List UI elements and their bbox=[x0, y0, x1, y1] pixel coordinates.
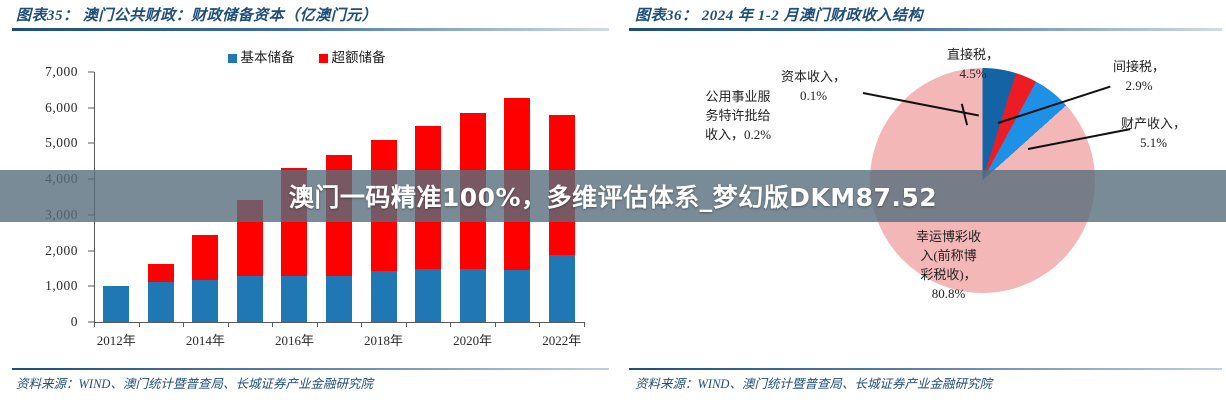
x-axis-label: 2020年 bbox=[453, 330, 492, 349]
pie-label-indirect-tax: 间接税， 2.9% bbox=[1113, 58, 1165, 96]
x-axis-tick bbox=[584, 322, 585, 327]
pie-label-utility-line3: 收入，0.2% bbox=[705, 126, 771, 145]
x-axis-tick bbox=[272, 322, 273, 327]
pie-label-gaming-line1: 幸运博彩收 bbox=[916, 228, 981, 247]
bar-segment-basic-reserve[interactable] bbox=[103, 286, 129, 322]
bar-segment-basic-reserve[interactable] bbox=[281, 276, 307, 322]
pie-label-direct-tax-line2: 4.5% bbox=[947, 65, 999, 84]
x-axis-tick bbox=[94, 322, 95, 327]
x-axis-tick bbox=[317, 322, 318, 327]
right-source-divider bbox=[629, 368, 1222, 370]
bar-group[interactable] bbox=[103, 72, 129, 322]
y-axis-label: 2,000 bbox=[0, 243, 78, 259]
bar-segment-excess-reserve[interactable] bbox=[504, 98, 530, 270]
bar-segment-basic-reserve[interactable] bbox=[549, 255, 575, 322]
x-axis-tick bbox=[406, 322, 407, 327]
bar-segment-excess-reserve[interactable] bbox=[237, 200, 263, 277]
pie-label-utility-concession: 公用事业服 务特许批给 收入，0.2% bbox=[705, 88, 771, 145]
x-axis-label: 2014年 bbox=[186, 330, 225, 349]
y-axis-label: 4,000 bbox=[0, 171, 78, 187]
bar-segment-excess-reserve[interactable] bbox=[549, 115, 575, 255]
x-axis-tick bbox=[183, 322, 184, 327]
bar-segment-basic-reserve[interactable] bbox=[148, 282, 174, 322]
bar-group[interactable] bbox=[237, 72, 263, 322]
bar-segment-excess-reserve[interactable] bbox=[148, 264, 174, 282]
left-chart-panel: 图表35： 澳门公共财政：财政储备资本（亿澳门元） 基本储备 超额储备 01,0… bbox=[0, 0, 613, 400]
bar-group[interactable] bbox=[371, 72, 397, 322]
left-panel-title: 图表35： 澳门公共财政：财政储备资本（亿澳门元） bbox=[16, 4, 605, 25]
x-axis-label: 2012年 bbox=[97, 330, 136, 349]
pie-label-property-income: 财产收入， 5.1% bbox=[1121, 115, 1186, 153]
y-axis-label: 3,000 bbox=[0, 207, 78, 223]
x-axis-label: 2022年 bbox=[542, 330, 581, 349]
x-axis-tick bbox=[450, 322, 451, 327]
bar-segment-basic-reserve[interactable] bbox=[192, 280, 218, 322]
legend-item-excess-reserve: 超额储备 bbox=[319, 46, 386, 66]
pie-label-property-income-line2: 5.1% bbox=[1121, 134, 1186, 153]
bar-group[interactable] bbox=[504, 72, 530, 322]
bar-segment-excess-reserve[interactable] bbox=[192, 235, 218, 280]
left-title-divider bbox=[12, 28, 609, 31]
pie-label-property-income-line1: 财产收入， bbox=[1121, 115, 1186, 134]
pie-label-utility-line2: 务特许批给 bbox=[705, 107, 771, 126]
bar-group[interactable] bbox=[460, 72, 486, 322]
fiscal-reserve-bar-chart: 基本储备 超额储备 01,0002,0003,0004,0005,0006,00… bbox=[0, 40, 613, 360]
bar-group[interactable] bbox=[192, 72, 218, 322]
x-axis-tick bbox=[228, 322, 229, 327]
legend-label-basic-reserve: 基本储备 bbox=[241, 50, 295, 65]
fiscal-revenue-pie-chart: 资本收入， 0.1% 公用事业服 务特许批给 收入，0.2% 直接税， 4.5%… bbox=[613, 30, 1226, 360]
right-panel-source: 资料来源：WIND、澳门统计暨普查局、长城证券产业金融研究院 bbox=[635, 373, 992, 392]
pie-label-indirect-tax-line1: 间接税， bbox=[1113, 58, 1165, 77]
pie-label-capital-income-line2: 0.1% bbox=[781, 87, 846, 106]
y-axis-label: 5,000 bbox=[0, 135, 78, 151]
pie-label-gaming-line2: 入(前称博 bbox=[916, 247, 981, 266]
bar-segment-excess-reserve[interactable] bbox=[326, 155, 352, 276]
screenshot-root: 图表35： 澳门公共财政：财政储备资本（亿澳门元） 基本储备 超额储备 01,0… bbox=[0, 0, 1226, 400]
x-axis-label: 2016年 bbox=[275, 330, 314, 349]
legend-swatch-excess-reserve bbox=[319, 54, 328, 63]
x-axis-tick bbox=[495, 322, 496, 327]
left-panel-source: 资料来源：WIND、澳门统计暨普查局、长城证券产业金融研究院 bbox=[16, 373, 373, 392]
legend-label-excess-reserve: 超额储备 bbox=[332, 50, 386, 65]
bar-group[interactable] bbox=[281, 72, 307, 322]
bar-segment-excess-reserve[interactable] bbox=[371, 140, 397, 271]
bar-segment-basic-reserve[interactable] bbox=[504, 270, 530, 323]
bar-segment-basic-reserve[interactable] bbox=[460, 269, 486, 322]
bar-segment-excess-reserve[interactable] bbox=[281, 168, 307, 276]
pie-label-indirect-tax-line2: 2.9% bbox=[1113, 77, 1165, 96]
bar-group[interactable] bbox=[549, 72, 575, 322]
bar-chart-legend: 基本储备 超额储备 bbox=[0, 46, 613, 66]
legend-item-basic-reserve: 基本储备 bbox=[228, 46, 295, 66]
bar-segment-excess-reserve[interactable] bbox=[415, 126, 441, 270]
pie-label-gaming-revenue: 幸运博彩收 入(前称博 彩税收)， 80.8% bbox=[916, 228, 981, 303]
legend-swatch-basic-reserve bbox=[228, 54, 237, 63]
x-axis-tick bbox=[139, 322, 140, 327]
x-axis-line bbox=[94, 322, 584, 323]
pie-label-direct-tax: 直接税， 4.5% bbox=[947, 46, 999, 84]
bar-segment-basic-reserve[interactable] bbox=[326, 276, 352, 322]
left-source-divider bbox=[12, 368, 609, 370]
pie-label-capital-income: 资本收入， 0.1% bbox=[781, 68, 846, 106]
bar-segment-basic-reserve[interactable] bbox=[371, 271, 397, 322]
pie-label-capital-income-line1: 资本收入， bbox=[781, 68, 846, 87]
y-axis-label: 7,000 bbox=[0, 64, 78, 80]
right-panel-title: 图表36： 2024 年 1-2 月澳门财政收入结构 bbox=[635, 4, 1218, 25]
bar-group[interactable] bbox=[326, 72, 352, 322]
pie-label-direct-tax-line1: 直接税， bbox=[947, 46, 999, 65]
pie-label-gaming-line4: 80.8% bbox=[916, 285, 981, 304]
y-axis-label: 0 bbox=[0, 314, 78, 330]
bar-segment-basic-reserve[interactable] bbox=[237, 276, 263, 322]
bar-group[interactable] bbox=[415, 72, 441, 322]
y-axis-label: 6,000 bbox=[0, 100, 78, 116]
bar-plot-area bbox=[94, 72, 584, 322]
x-axis-tick bbox=[539, 322, 540, 327]
bar-segment-basic-reserve[interactable] bbox=[415, 269, 441, 322]
y-axis-label: 1,000 bbox=[0, 278, 78, 294]
x-axis-tick bbox=[361, 322, 362, 327]
pie-label-utility-line1: 公用事业服 bbox=[705, 88, 771, 107]
bar-group[interactable] bbox=[148, 72, 174, 322]
pie-label-gaming-line3: 彩税收)， bbox=[916, 266, 981, 285]
bar-segment-excess-reserve[interactable] bbox=[460, 113, 486, 269]
x-axis-label: 2018年 bbox=[364, 330, 403, 349]
right-chart-panel: 图表36： 2024 年 1-2 月澳门财政收入结构 资本收入， 0.1% 公用… bbox=[613, 0, 1226, 400]
